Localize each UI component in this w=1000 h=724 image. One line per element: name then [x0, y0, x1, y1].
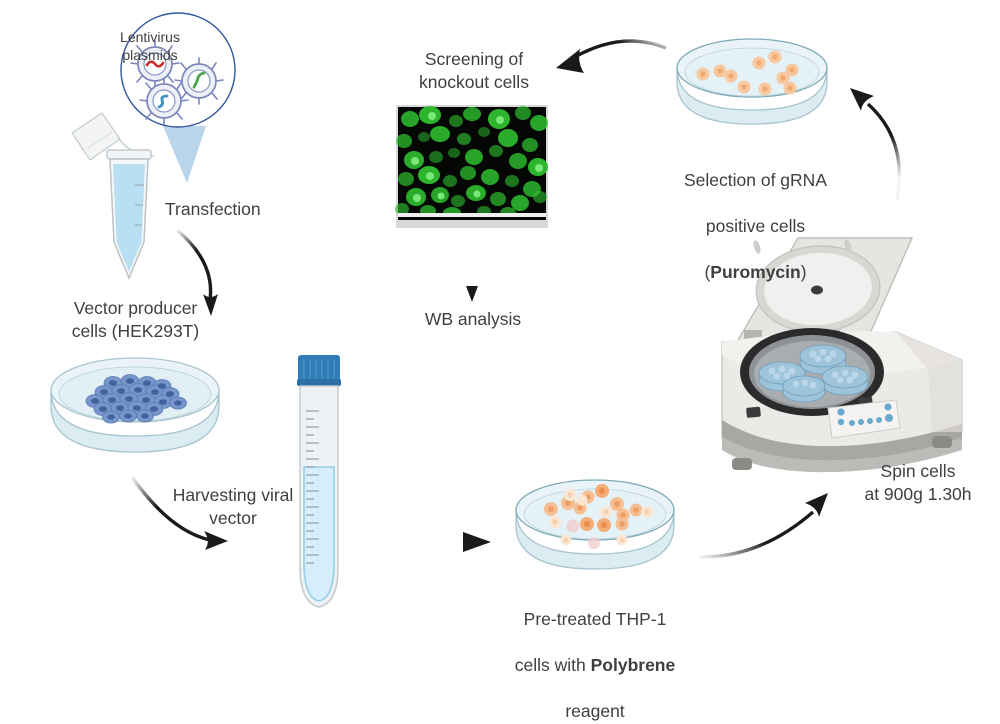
arrow-selection-to-screening: [556, 41, 666, 73]
arrow-tube-to-thp1: [363, 532, 491, 552]
label-selection-paren-close: ): [801, 262, 807, 282]
arrow-screening-to-wb: [466, 243, 478, 302]
label-lentivirus-plasmids: Lentivirus plasmids: [95, 28, 205, 65]
label-polybrene: Polybrene: [591, 655, 676, 675]
fluorescence-micrograph-image: [396, 105, 548, 228]
eppendorf-tube-icon: [88, 150, 168, 290]
label-harvesting-viral-vector: Harvesting viral vector: [158, 484, 308, 530]
label-pretreated-thp1: Pre-treated THP-1 cells with Polybrene r…: [490, 585, 700, 724]
label-selection-line2: positive cells: [706, 216, 805, 236]
label-selection-line1: Selection of gRNA: [684, 170, 827, 190]
micrograph-scale-bar: [398, 213, 546, 217]
label-selection-gRNA: Selection of gRNA positive cells (Puromy…: [668, 146, 843, 285]
label-spin-cells: Spin cells at 900g 1.30h: [838, 460, 998, 506]
label-vector-producer-cells: Vector producer cells (HEK293T): [48, 297, 223, 343]
diagram-canvas: Lentivirus plasmids: [0, 0, 1000, 700]
label-thp1-line3: reagent: [565, 701, 624, 721]
arrow-centrifuge-to-selection: [850, 88, 899, 200]
petri-dish-thp1-icon: [510, 470, 680, 580]
petri-dish-selection-icon: [672, 30, 832, 135]
label-wb-analysis: WB analysis: [398, 308, 548, 331]
label-thp1-line1: Pre-treated THP-1: [524, 609, 667, 629]
magnifier-cone: [163, 126, 206, 183]
label-transfection: Transfection: [165, 198, 305, 221]
label-screening-knockout: Screening of knockout cells: [390, 48, 558, 94]
arrow-thp1-to-centrifuge: [700, 493, 828, 557]
label-thp1-line2-pre: cells with: [515, 655, 591, 675]
label-puromycin: Puromycin: [710, 262, 800, 282]
petri-dish-hek293t-icon: [45, 348, 225, 463]
